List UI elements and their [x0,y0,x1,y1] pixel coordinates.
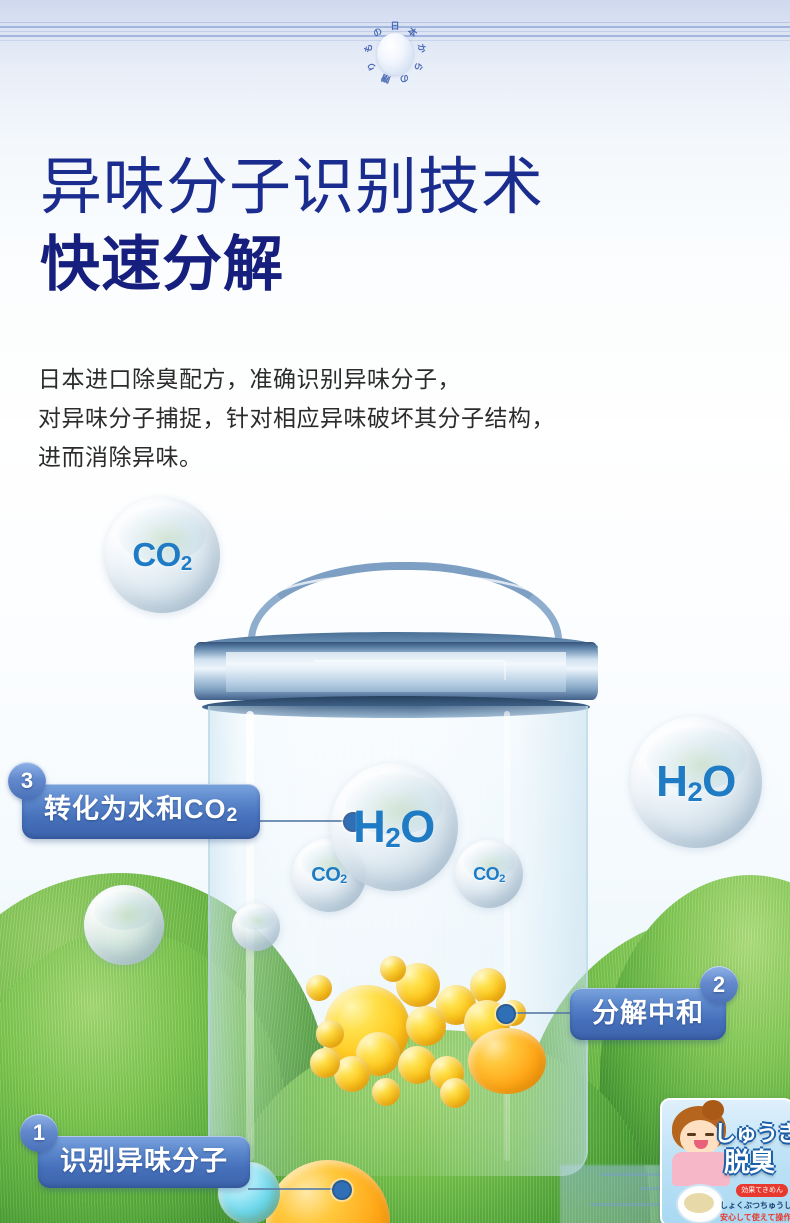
package-girl-body [672,1152,730,1186]
description-block: 日本进口除臭配方，准确识别异味分子， 对异味分子捕捉，针对相应异味破坏其分子结构… [38,364,738,481]
molecule-sphere [380,956,406,982]
package-caption-1: しょくぶつちゅうしゅつ [720,1201,790,1211]
bubble-co2-right: CO2 [455,840,523,908]
bubble-co2: CO2 [104,497,220,613]
callout-decompose-neutralize[interactable]: 分解中和 2 [570,988,726,1040]
callout-badge-2: 2 [700,966,738,1004]
leader-line-1 [248,1188,338,1190]
seal-ring-char: か [412,40,428,56]
seal-ring-char: も [361,40,377,56]
bubble-label: H2O [353,801,435,853]
promo-page: 日 本 か ら の 贈 り も の 异味分子识别技术 快速分解 日本进口除臭配方… [0,0,790,1223]
callout-text-2: 分解中和 [592,998,704,1028]
japan-origin-seal-icon: 日 本 か ら の 贈 り も の [358,16,432,90]
bubble-label: CO2 [132,536,191,574]
molecule-sphere [470,968,506,1004]
molecule-sphere [372,1078,400,1106]
callout-badge-3: 3 [8,762,46,800]
leader-line-3 [255,820,350,822]
bubble-plain-hill [84,885,164,965]
molecule-sphere [468,1028,546,1094]
leader-dot-1 [332,1180,352,1200]
package-title-line-2: 脱臭 [724,1142,774,1179]
callout-badge-1: 1 [20,1114,58,1152]
package-girl-eye [705,1133,714,1136]
bubble-plain-small [232,903,280,951]
headline-line-1: 异味分子识别技术 [40,152,740,224]
description-line-3: 进而消除异味。 [38,442,738,472]
package-product-photo [676,1184,724,1223]
package-product-contents [684,1193,714,1213]
callout-convert-to-water-and-co2[interactable]: 转化为水和CO2 3 [22,784,260,839]
seal-ring-char: の [395,68,413,86]
headline-line-2: 快速分解 [40,230,740,300]
callout-pill-1[interactable]: 识别异味分子 [38,1136,250,1188]
callout-text-1: 识别异味分子 [60,1146,228,1176]
description-line-1: 日本进口除臭配方，准确识别异味分子， [38,364,738,394]
molecule-sphere [306,975,332,1001]
package-caption-2: 安心して使えて操作も [720,1213,790,1223]
bubble-tint [238,907,274,930]
package-red-tag: 効果てきめん [736,1184,788,1197]
molecule-sphere [406,1006,446,1046]
bubble-label: H2O [656,757,736,807]
leader-dot-2 [496,1004,516,1024]
bubble-h2o-right: H2O [630,716,762,848]
callout-pill-3[interactable]: 转化为水和CO2 [22,784,260,839]
callout-identify-odor-molecules[interactable]: 识别异味分子 1 [38,1136,250,1188]
description-line-2: 对异味分子捕捉，针对相应异味破坏其分子结构， [38,403,738,433]
headline-block: 异味分子识别技术 快速分解 [40,152,740,300]
molecule-sphere [440,1078,470,1108]
seal-ring-char: 日 [388,20,402,34]
package-girl-eye [687,1133,696,1136]
jar-lid-notch [314,660,506,680]
bubble-label: CO2 [311,864,346,887]
bubble-tint [94,891,155,929]
molecule-sphere [316,1020,344,1048]
callout-subscript-3: 2 [227,804,239,826]
callout-text-3: 转化为水和CO [44,794,227,824]
product-package-thumbnail[interactable]: しゅうき 脱臭 効果てきめん しょくぶつちゅうしゅつ 安心して使えて操作も [660,1098,790,1223]
molecule-sphere [310,1048,340,1078]
bubble-label: CO2 [473,864,505,885]
